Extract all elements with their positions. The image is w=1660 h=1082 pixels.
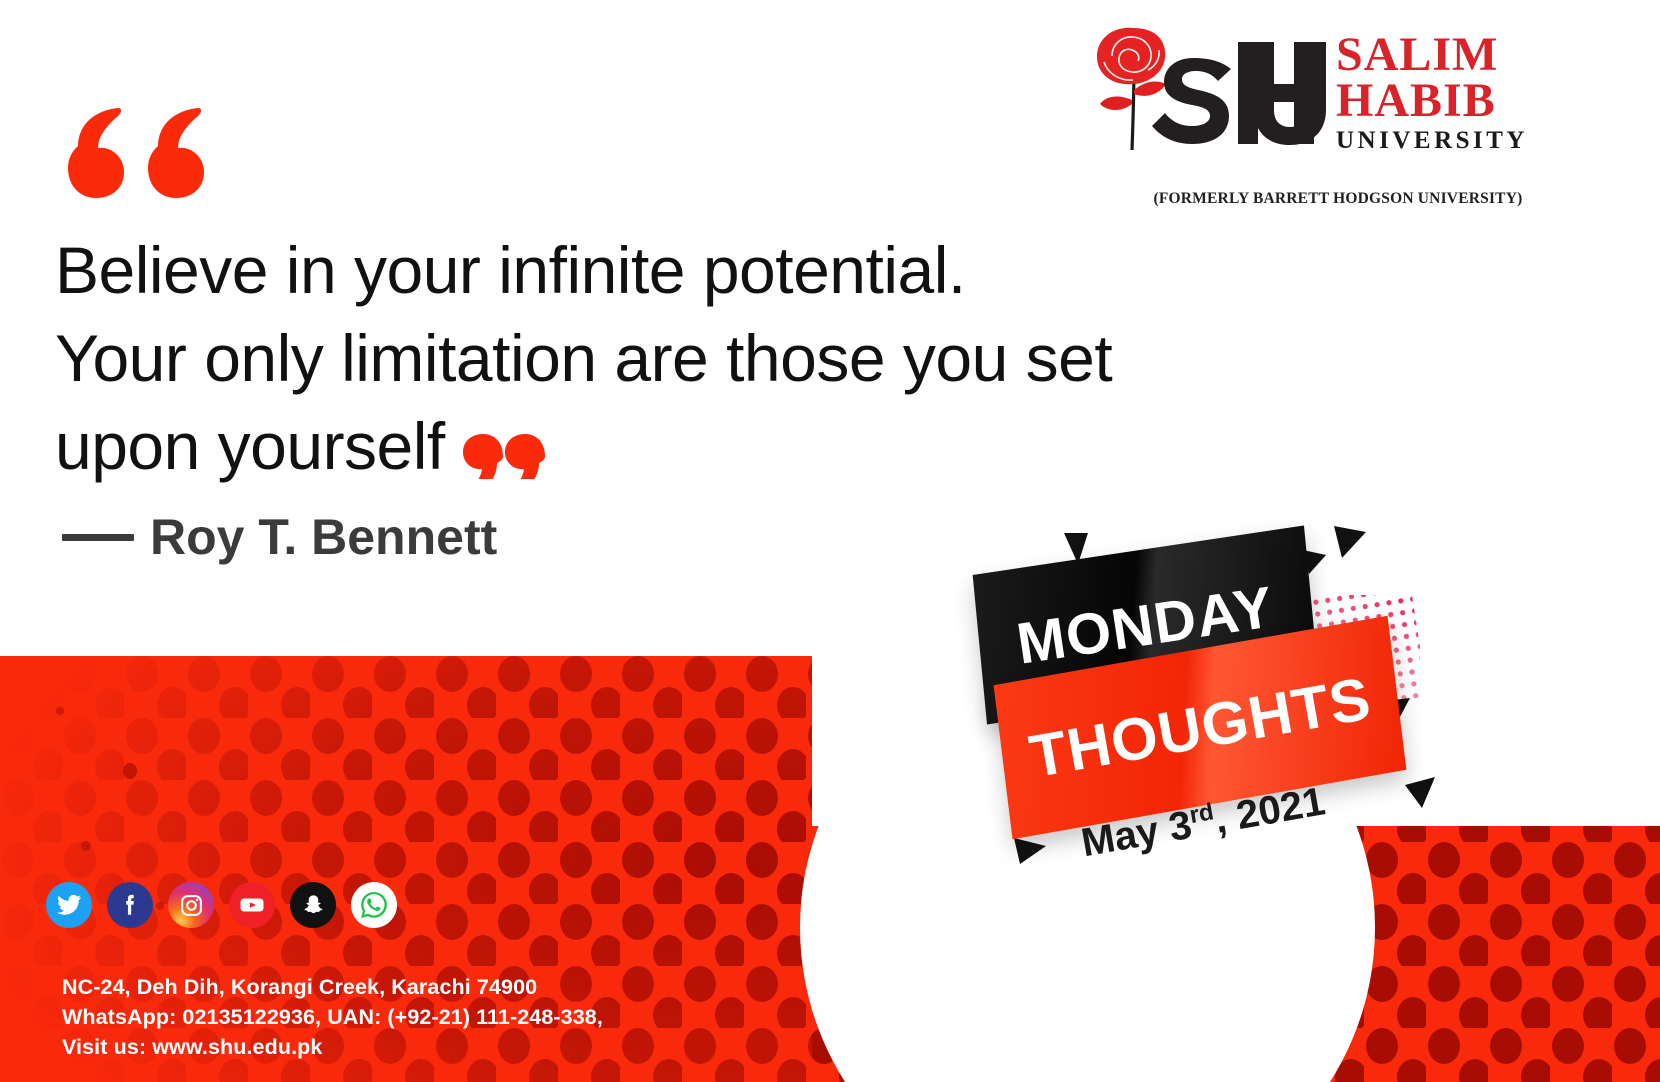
poster-canvas: SALIM HABIB UNIVERSITY (FORMERLY BARRETT… — [0, 0, 1660, 1082]
monday-thoughts-badge: MONDAY THOUGHTS May 3rd, 2021 — [930, 500, 1490, 920]
logo-word-habib: HABIB — [1336, 78, 1536, 124]
twitter-icon[interactable] — [46, 882, 92, 928]
quote-attribution: Roy T. Bennett — [62, 508, 497, 566]
open-quote-icon — [62, 108, 212, 198]
close-quote-icon — [463, 431, 545, 479]
facebook-f-glyph — [117, 892, 143, 918]
snapchat-icon[interactable] — [290, 882, 336, 928]
quote-line-1: Believe in your infinite potential. — [55, 226, 1405, 314]
social-links-row[interactable] — [46, 882, 397, 928]
footer-address-line: NC-24, Deh Dih, Korangi Creek, Karachi 7… — [62, 972, 603, 1002]
shu-monogram-icon — [1088, 22, 1338, 162]
logo-word-university: UNIVERSITY — [1336, 126, 1536, 156]
badge-text-thoughts: THOUGHTS — [1024, 664, 1375, 792]
attribution-author: Roy T. Bennett — [150, 508, 497, 566]
attribution-dash — [62, 534, 134, 541]
whatsapp-phone-glyph — [359, 890, 389, 920]
instagram-icon[interactable] — [168, 882, 214, 928]
quote-line-3-wrapper: upon yourself — [55, 402, 1405, 490]
footer-phone-line: WhatsApp: 02135122936, UAN: (+92-21) 111… — [62, 1002, 603, 1032]
shu-logo: SALIM HABIB UNIVERSITY (FORMERLY BARRETT… — [1088, 22, 1528, 202]
footer-contact-block: NC-24, Deh Dih, Korangi Creek, Karachi 7… — [62, 972, 603, 1062]
logo-tagline: (FORMERLY BARRETT HODGSON UNIVERSITY) — [1138, 190, 1538, 208]
youtube-play-glyph — [238, 895, 266, 915]
quote-line-2: Your only limitation are those you set — [55, 314, 1405, 402]
snapchat-ghost-glyph — [301, 893, 326, 918]
quote-line-3: upon yourself — [55, 409, 445, 483]
logo-word-salim: SALIM — [1336, 32, 1536, 78]
whatsapp-icon[interactable] — [351, 882, 397, 928]
youtube-icon[interactable] — [229, 882, 275, 928]
quote-text-block: Believe in your infinite potential. Your… — [55, 226, 1405, 490]
twitter-bird-glyph — [56, 892, 82, 918]
footer-website-line: Visit us: www.shu.edu.pk — [62, 1032, 603, 1062]
instagram-camera-glyph — [179, 893, 204, 918]
facebook-icon[interactable] — [107, 882, 153, 928]
